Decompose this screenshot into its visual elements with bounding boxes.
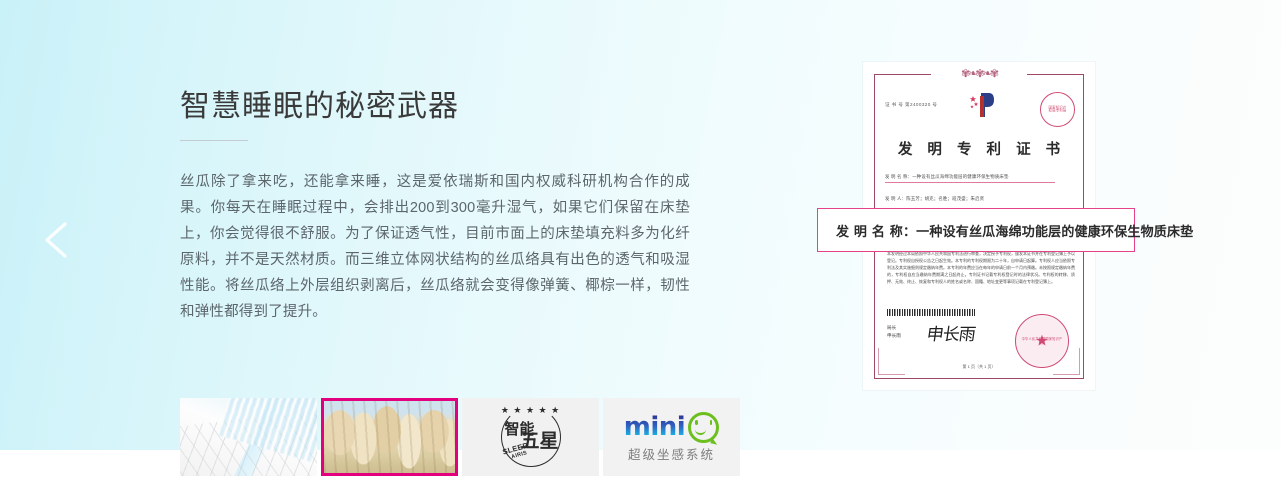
mini-logo: mini 超级坐感系统 [603, 398, 740, 476]
invention-name-callout: 发 明 名 称：一种设有丝瓜海绵功能层的健康环保生物质床垫 [817, 208, 1135, 252]
certificate-official-seal: ★ 中华人民共和国国家知识产权局 [1015, 314, 1069, 368]
mini-wordmark: mini [624, 414, 685, 440]
logo-ring: ★ ★ ★ ★ ★ 智能 五星 SLEEP AIRIS [501, 407, 561, 467]
certificate-row-inventors: 发 明 人：陈玉芳；胡克；名胜；班茂盛；朱启贤 [885, 196, 1075, 202]
certificate-signature: 申长雨 [925, 320, 977, 345]
certificate-barcode [887, 309, 975, 316]
body-paragraph: 丝瓜除了拿来吃，还能拿来睡，这是爱依瑞斯和国内权威科研机构合作的成果。你每天在睡… [180, 141, 690, 325]
chevron-left-icon [38, 218, 78, 262]
certificate-page-number: 第 1 页（共 1 页） [863, 364, 1095, 370]
certificate-top-ornament: ✾❧✾❧✾ [931, 68, 1027, 80]
carousel-prev-button[interactable] [38, 218, 78, 262]
smiley-icon [688, 412, 719, 443]
certificate-body-text: 本发明经过本局依照中华人民共和国专利法进行审查，决定授予专利权，颁发本证书并在专… [887, 250, 1075, 285]
certificate-row-underline [885, 182, 1055, 183]
mini-subtitle: 超级坐感系统 [628, 444, 715, 463]
thumbnail-loofah-fiber[interactable] [321, 398, 458, 476]
patent-office-emblem-icon [967, 90, 997, 125]
certificate-serial: 证 书 号 第2400320 号 [885, 102, 937, 108]
thumbnail-mini-seating-system[interactable]: mini 超级坐感系统 [603, 398, 740, 476]
certificate-title: 发 明 专 利 证 书 [863, 138, 1095, 159]
mattress-surface-image [180, 398, 317, 476]
mini-logo-row: mini [624, 412, 719, 443]
small-seal-text: 国家知识产权局专利局 [1049, 106, 1067, 113]
page-title: 智慧睡眠的秘密武器 [180, 88, 690, 126]
sleep-airis-logo: ★ ★ ★ ★ ★ 智能 五星 SLEEP AIRIS [462, 398, 599, 476]
logo-en: SLEEP AIRIS [501, 441, 530, 463]
certificate-signature-label: 局长申长雨 [887, 324, 901, 340]
thumbnail-sleep-airis-five-star[interactable]: ★ ★ ★ ★ ★ 智能 五星 SLEEP AIRIS [462, 398, 599, 476]
loofah-fiber-image [324, 401, 455, 473]
certificate-small-seal: 国家知识产权局专利局 [1040, 92, 1075, 127]
promo-slide: 智慧睡眠的秘密武器 丝瓜除了拿来吃，还能拿来睡，这是爱依瑞斯和国内权威科研机构合… [0, 0, 1281, 487]
thumbnail-mattress-surface[interactable] [180, 398, 317, 476]
official-seal-text: 中华人民共和国国家知识产权局 [1020, 337, 1064, 345]
logo-stars: ★ ★ ★ ★ ★ [501, 405, 560, 416]
thumbnail-strip: ★ ★ ★ ★ ★ 智能 五星 SLEEP AIRIS mini [180, 398, 740, 476]
copy-block: 智慧睡眠的秘密武器 丝瓜除了拿来吃，还能拿来睡，这是爱依瑞斯和国内权威科研机构合… [180, 88, 690, 325]
callout-text: 发 明 名 称：一种设有丝瓜海绵功能层的健康环保生物质床垫 [818, 221, 1193, 240]
certificate-row-invention-name: 发 明 名 称：一种设有丝瓜海绵功能层的健康环保生物质床垫 [885, 174, 1075, 180]
